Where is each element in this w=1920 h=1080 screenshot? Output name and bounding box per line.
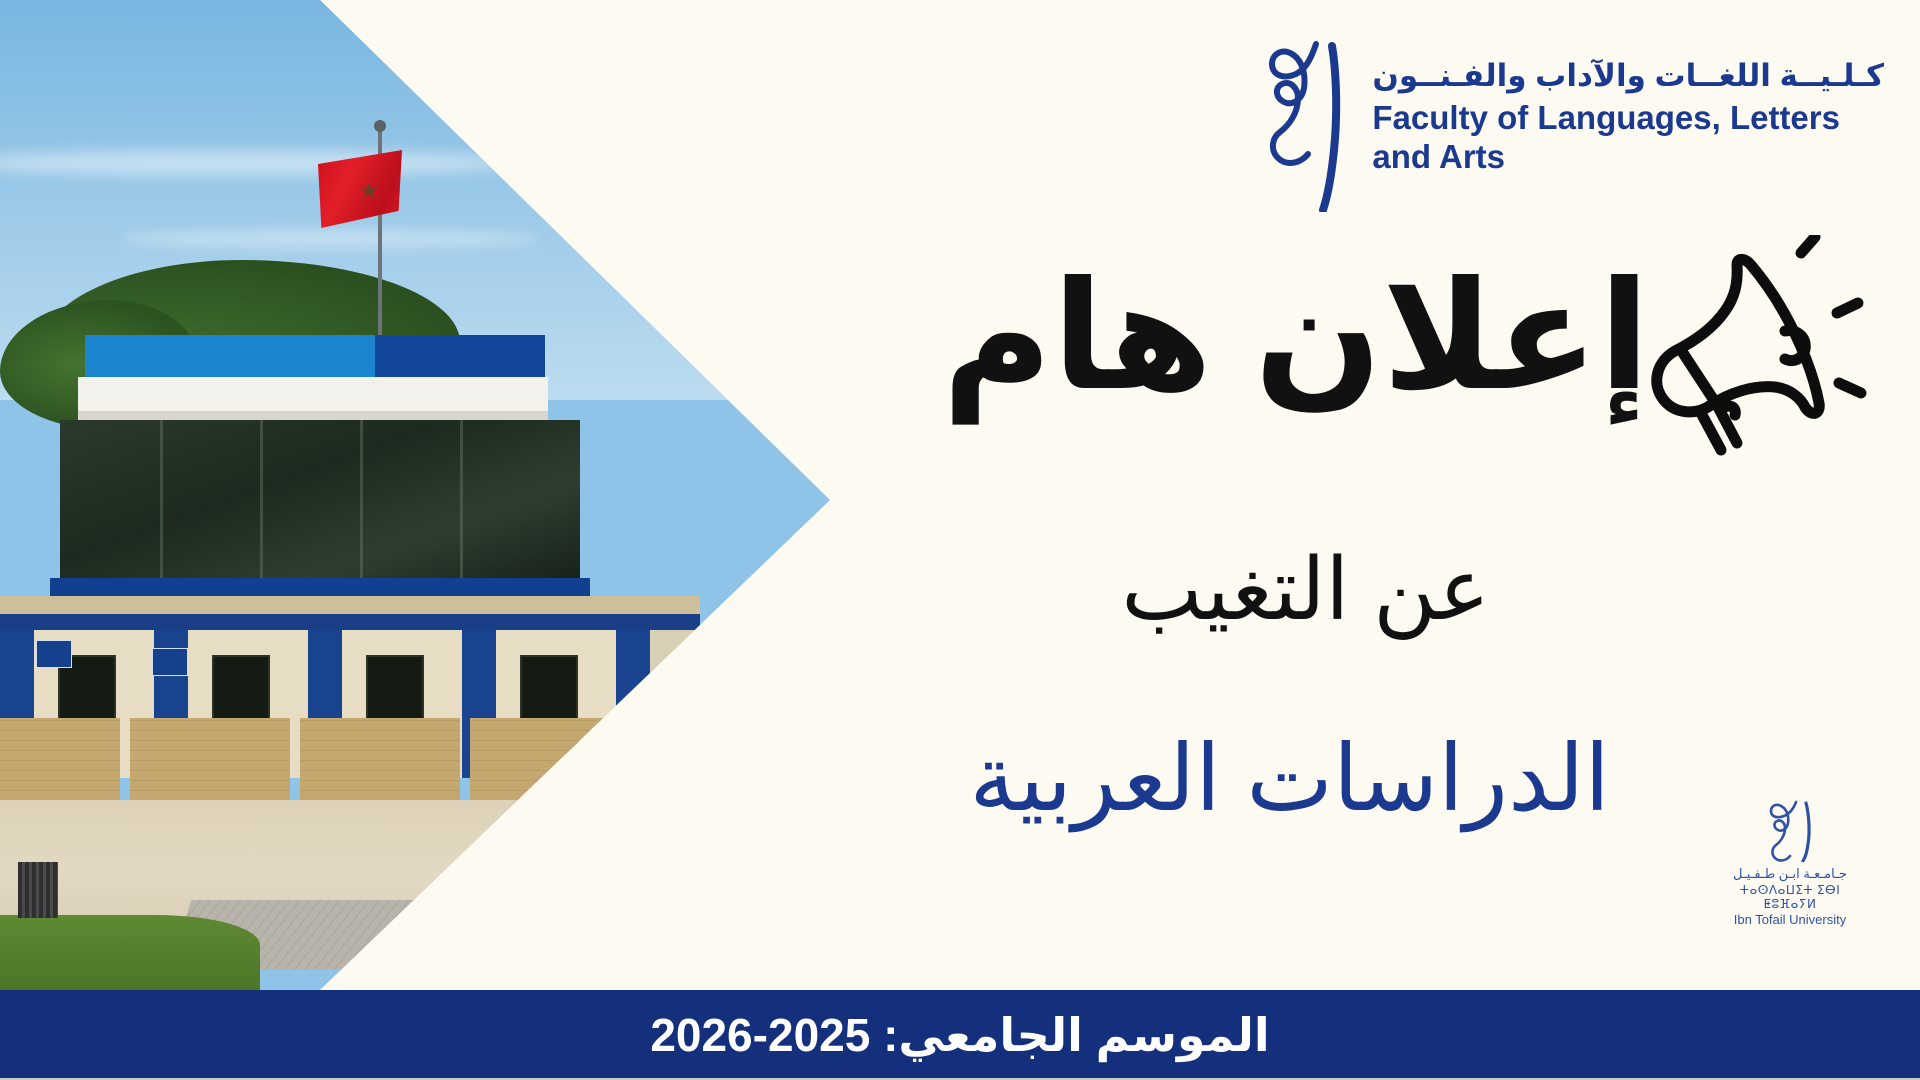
faculty-logo: كـلـيــة اللغــات والآداب والفـنــون Fac…	[1260, 40, 1884, 212]
faculty-calligraphy-mark	[1260, 40, 1346, 212]
faculty-name-english-line2: and Arts	[1372, 138, 1884, 177]
glass-facade	[60, 420, 580, 585]
flagpole-finial	[374, 120, 386, 132]
university-logo: جـامـعـة ابـن طـفـيـل ⵜⴰⵙⴷⴰⵡⵉⵜ ⵉⴱⵏ ⵟⵓⴼⴰⵢ…	[1715, 800, 1865, 927]
glass-mullion	[460, 420, 463, 585]
cloud	[120, 230, 540, 248]
arcade-pillar	[616, 630, 650, 778]
glass-mullion	[260, 420, 263, 585]
grass-patch	[0, 915, 260, 990]
megaphone-icon	[1625, 235, 1875, 465]
blue-ledge	[50, 578, 590, 596]
arcade-blue-band	[0, 614, 700, 630]
ibn-tofail-calligraphy-mark	[1764, 800, 1816, 862]
photo-canvas: ★	[0, 0, 830, 990]
wall-plaque	[36, 640, 72, 668]
glass-mullion	[360, 420, 363, 585]
brick-base	[0, 718, 120, 810]
glass-mullion	[160, 420, 163, 585]
academic-year-banner: الموسم الجامعي: 2025-2026	[0, 990, 1920, 1080]
announcement-poster: ★	[0, 0, 1920, 1080]
trash-bin	[18, 862, 58, 918]
university-name-english: Ibn Tofail University	[1715, 912, 1865, 927]
subtitle: عن التغيب	[1121, 540, 1490, 640]
flag-star-icon: ★	[358, 180, 380, 202]
department-label: الدراسات العربية	[969, 725, 1610, 832]
faculty-building-photo: ★	[0, 0, 830, 990]
page-title: إعلان هام	[942, 255, 1650, 417]
university-name-arabic: جـامـعـة ابـن طـفـيـل	[1715, 866, 1865, 882]
wall-plaque	[152, 648, 188, 676]
roof-band-light	[85, 335, 375, 377]
academic-year-text: الموسم الجامعي: 2025-2026	[650, 1008, 1269, 1062]
brick-base	[130, 718, 290, 810]
faculty-logo-text: كـلـيــة اللغــات والآداب والفـنــون Fac…	[1372, 40, 1884, 176]
university-name-tifinagh: ⵜⴰⵙⴷⴰⵡⵉⵜ ⵉⴱⵏ ⵟⵓⴼⴰⵢⵍ	[1715, 883, 1865, 911]
arcade-cornice	[0, 596, 700, 614]
faculty-name-english-line1: Faculty of Languages, Letters	[1372, 99, 1884, 138]
brick-base	[470, 718, 630, 810]
brick-base	[300, 718, 460, 810]
faculty-name-arabic: كـلـيــة اللغــات والآداب والفـنــون	[1372, 58, 1884, 95]
